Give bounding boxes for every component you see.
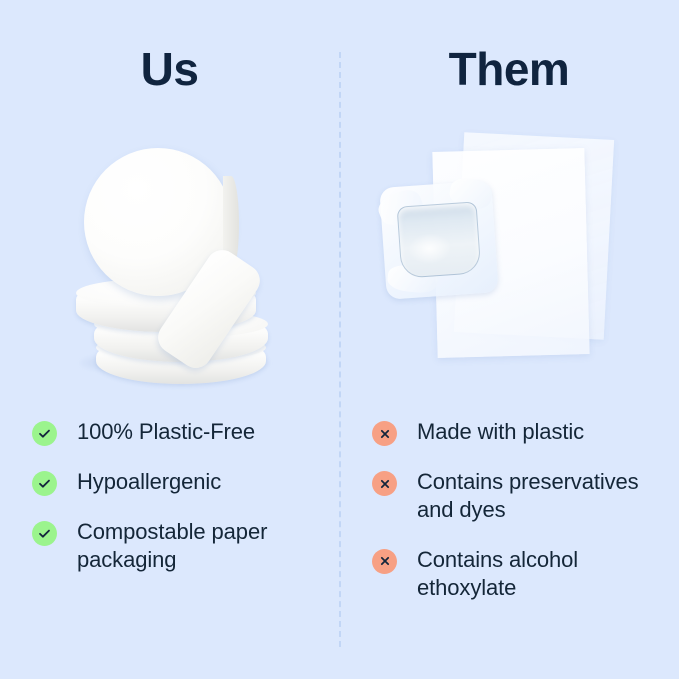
product-image-tablets	[0, 120, 339, 400]
plastic-pod-wrapper	[379, 180, 499, 300]
pod-liquid-detergent	[397, 201, 482, 278]
list-item: Contains preservatives and dyes	[372, 468, 668, 524]
list-item: Compostable paper packaging	[32, 518, 322, 574]
list-item-label: Hypoallergenic	[77, 468, 221, 496]
list-item-label: Contains alcohol ethoxylate	[417, 546, 668, 602]
list-item-label: Made with plastic	[417, 418, 584, 446]
cross-icon	[372, 549, 397, 574]
column-heading-them: Them	[339, 46, 679, 92]
cross-icon	[372, 471, 397, 496]
check-icon	[32, 471, 57, 496]
list-item: 100% Plastic-Free	[32, 418, 322, 446]
comparison-graphic: Us Them	[0, 0, 679, 679]
benefits-list-us: 100% Plastic-Free Hypoallergenic Compost…	[32, 418, 322, 596]
drawbacks-list-them: Made with plastic Contains preservatives…	[372, 418, 668, 624]
liquid-highlight	[408, 232, 452, 265]
list-item-label: 100% Plastic-Free	[77, 418, 255, 446]
column-heading-us: Us	[0, 46, 339, 92]
list-item: Hypoallergenic	[32, 468, 322, 496]
check-icon	[32, 421, 57, 446]
tablet-stack-illustration	[52, 142, 302, 392]
product-image-plastic-pod	[339, 120, 679, 400]
list-item: Contains alcohol ethoxylate	[372, 546, 668, 602]
cross-icon	[372, 421, 397, 446]
list-item-label: Contains preservatives and dyes	[417, 468, 668, 524]
plastic-illustration	[377, 126, 637, 394]
check-icon	[32, 521, 57, 546]
list-item-label: Compostable paper packaging	[77, 518, 322, 574]
list-item: Made with plastic	[372, 418, 668, 446]
